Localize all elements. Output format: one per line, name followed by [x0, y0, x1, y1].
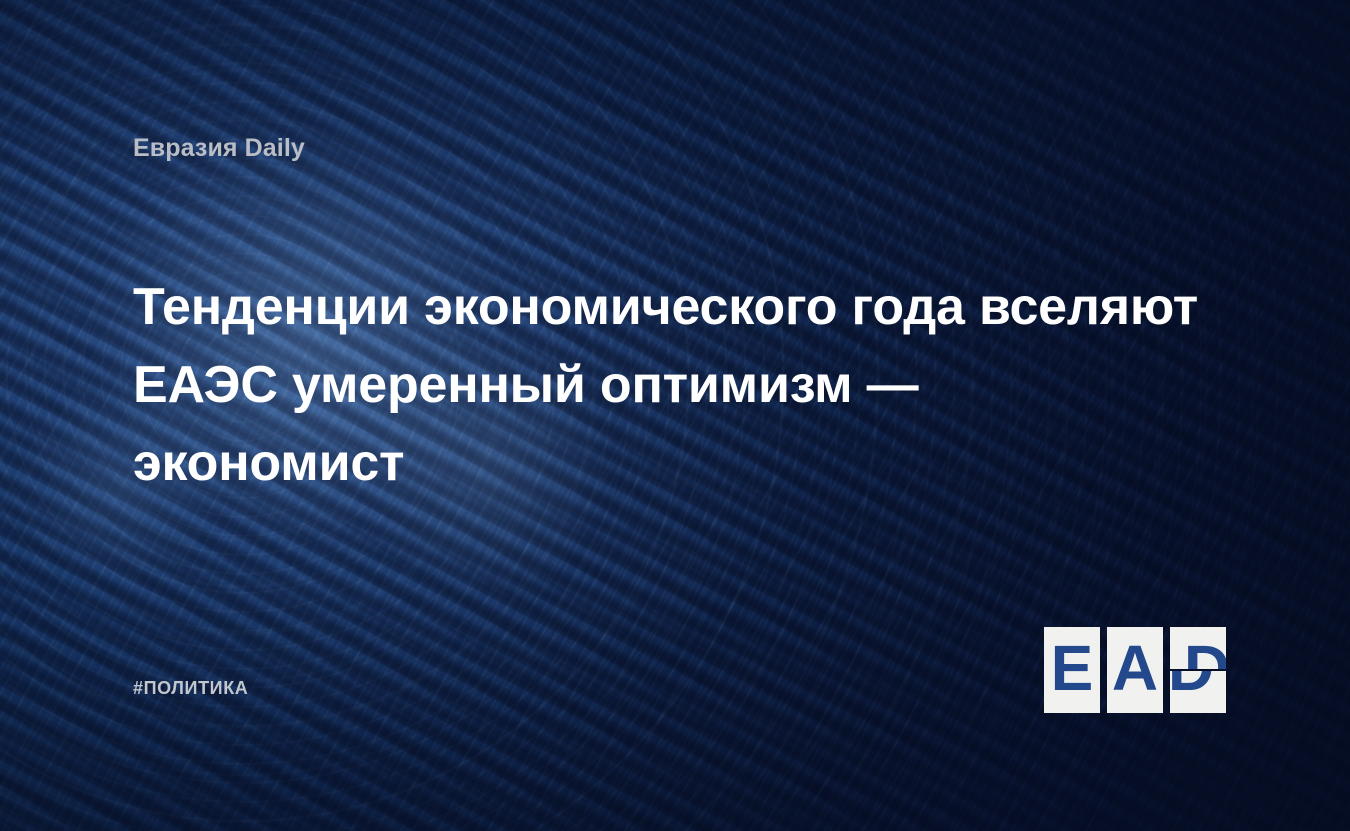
eadaily-logo[interactable]: E A D D — [1044, 627, 1226, 713]
logo-tile-a: A — [1107, 627, 1163, 713]
logo-tile-d-lower: D — [1170, 671, 1226, 713]
news-share-card: Евразия Daily Тенденции экономического г… — [0, 0, 1350, 831]
logo-letter-d-upper: D — [1179, 627, 1226, 669]
logo-tile-e: E — [1044, 627, 1100, 713]
site-name: Евразия Daily — [133, 136, 305, 161]
logo-tile-d-upper: D — [1170, 627, 1226, 669]
logo-tile-d-split: D D — [1170, 627, 1226, 713]
logo-letter-a: A — [1112, 636, 1158, 700]
logo-letter-e: E — [1051, 636, 1094, 700]
page-title: Тенденции экономического года вселяют ЕА… — [133, 268, 1203, 502]
category-tag-politics[interactable]: #ПОЛИТИКА — [133, 679, 248, 697]
card-content: Евразия Daily Тенденции экономического г… — [0, 0, 1350, 831]
logo-letter-d-lower: D — [1170, 671, 1219, 711]
